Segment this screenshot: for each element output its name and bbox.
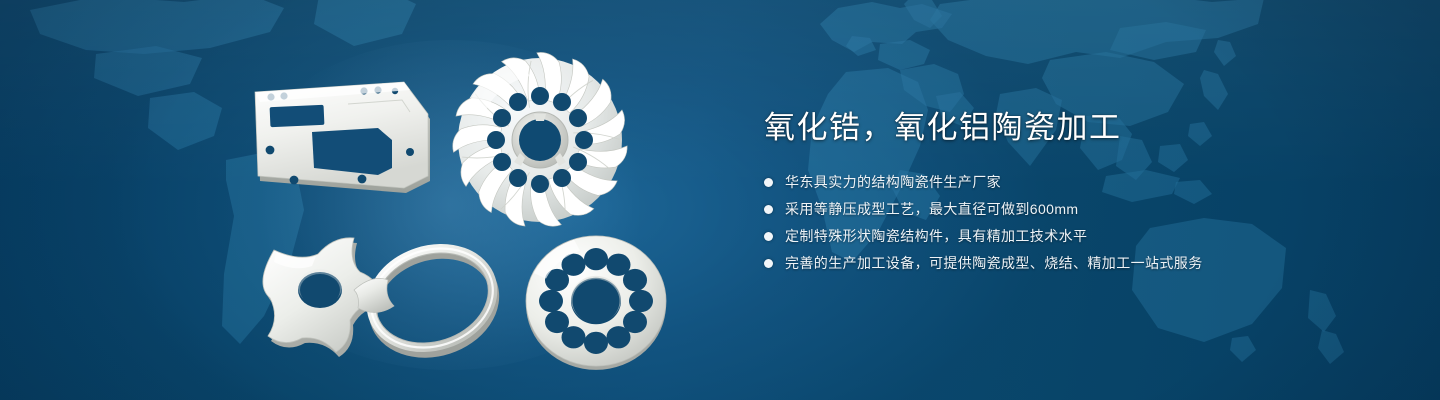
bullet-dot-icon <box>764 232 773 241</box>
feature-item: 完善的生产加工设备，可提供陶瓷成型、烧结、精加工一站式服务 <box>764 253 1384 274</box>
bullet-dot-icon <box>764 259 773 268</box>
bullet-dot-icon <box>764 178 773 187</box>
feature-item: 定制特殊形状陶瓷结构件，具有精加工技术水平 <box>764 226 1384 247</box>
bullet-dot-icon <box>764 205 773 214</box>
product-photo-cluster <box>0 0 720 400</box>
ceramic-plate-with-cutouts <box>252 80 432 195</box>
banner-copy: 氧化锆，氧化铝陶瓷加工 华东具实力的结构陶瓷件生产厂家 采用等静压成型工艺，最大… <box>764 108 1384 280</box>
ceramic-impeller-wheel <box>452 52 628 228</box>
ceramic-ring <box>352 232 512 364</box>
feature-item: 华东具实力的结构陶瓷件生产厂家 <box>764 172 1384 193</box>
feature-list: 华东具实力的结构陶瓷件生产厂家 采用等静压成型工艺，最大直径可做到600mm 定… <box>764 172 1384 274</box>
feature-item: 采用等静压成型工艺，最大直径可做到600mm <box>764 199 1384 220</box>
feature-text: 华东具实力的结构陶瓷件生产厂家 <box>785 172 1001 193</box>
feature-text: 完善的生产加工设备，可提供陶瓷成型、烧结、精加工一站式服务 <box>785 253 1203 274</box>
feature-text: 采用等静压成型工艺，最大直径可做到600mm <box>785 199 1078 220</box>
feature-text: 定制特殊形状陶瓷结构件，具有精加工技术水平 <box>785 226 1087 247</box>
ceramic-hole-plate <box>522 230 670 372</box>
banner-headline: 氧化锆，氧化铝陶瓷加工 <box>764 108 1384 148</box>
promo-banner: 氧化锆，氧化铝陶瓷加工 华东具实力的结构陶瓷件生产厂家 采用等静压成型工艺，最大… <box>0 0 1440 400</box>
